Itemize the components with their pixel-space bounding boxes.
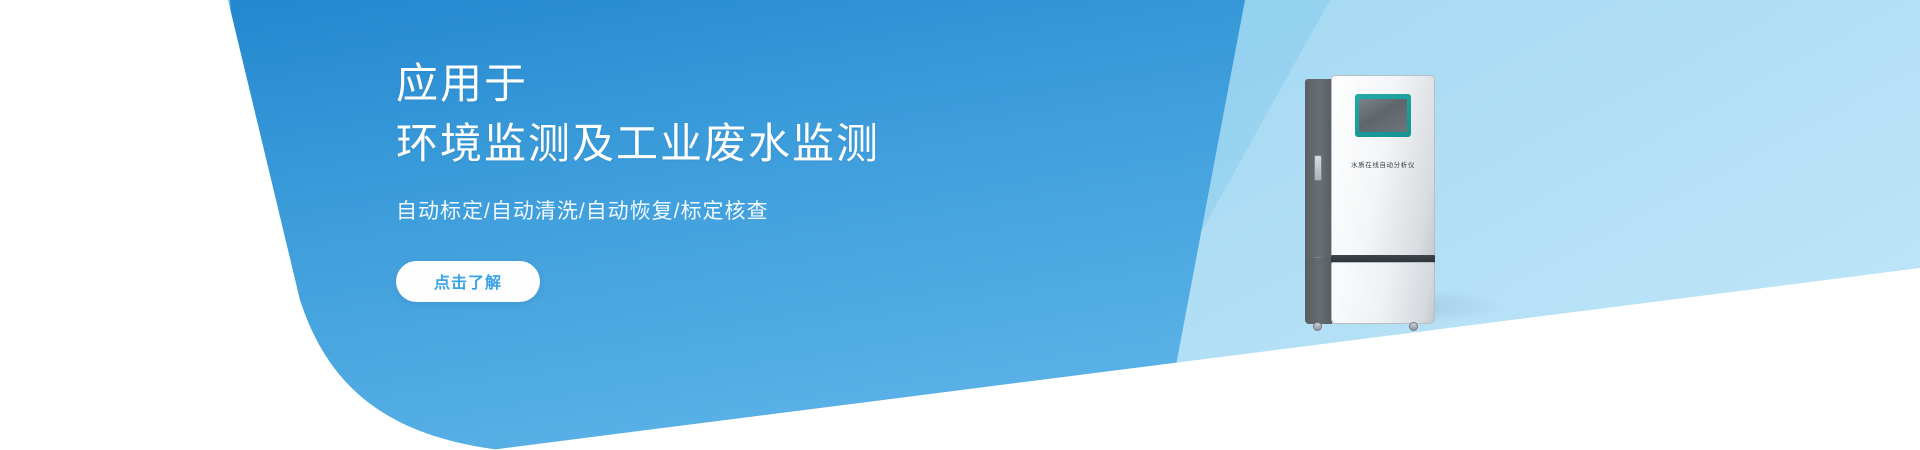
headline-line-1: 应用于	[396, 54, 1136, 114]
cabinet-lower-side-panel	[1305, 258, 1332, 324]
device-screen	[1359, 99, 1407, 132]
cabinet-upper-handle	[1314, 155, 1322, 181]
product-image-water-quality-analyzer: 水质在线自动分析仪	[1305, 75, 1435, 325]
hero-copy-block: 应用于 环境监测及工业废水监测 自动标定/自动清洗/自动恢复/标定核查 点击了解	[396, 54, 1136, 302]
cabinet-lower-door	[1331, 262, 1435, 324]
headline-line-2: 环境监测及工业废水监测	[396, 114, 1136, 174]
subheadline: 自动标定/自动清洗/自动恢复/标定核查	[396, 197, 1136, 226]
learn-more-button[interactable]: 点击了解	[396, 261, 540, 302]
product-label-text: 水质在线自动分析仪	[1331, 159, 1435, 169]
caster-wheel-left	[1313, 322, 1322, 331]
hero-banner: 水质在线自动分析仪 应用于 环境监测及工业废水监测 自动标定/自动清洗/自动恢复…	[0, 0, 1920, 450]
device-screen-bezel	[1355, 94, 1411, 137]
caster-wheel-right	[1409, 322, 1418, 331]
